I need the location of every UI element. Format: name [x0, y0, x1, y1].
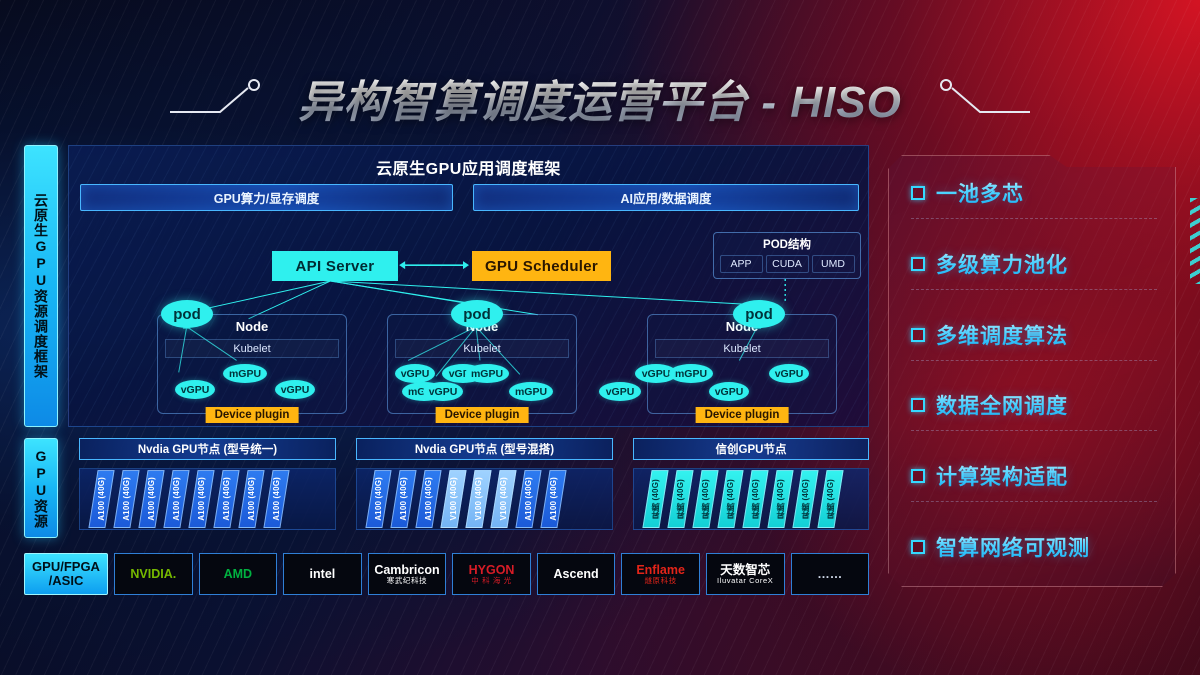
gpu-card-label: V100 (40G) [449, 477, 458, 520]
mgpu-pill[interactable]: mGPU [509, 382, 553, 401]
gpu-scheduler-node[interactable]: GPU Scheduler [472, 251, 611, 281]
gpu-card-label: A100 (40G) [524, 477, 533, 521]
intel-logo[interactable]: intel [283, 553, 362, 595]
gpu-card-label: V100 (40G) [499, 477, 508, 520]
gpu-resources-box: Nvdia GPU节点 (型号统一) Nvdia GPU节点 (型号混搭) 信创… [68, 438, 869, 538]
pod-badge[interactable]: pod [733, 300, 785, 328]
cloud-native-framework-box: 云原生GPU应用调度框架 GPU算力/显存调度 AI应用/数据调度 [68, 145, 869, 427]
pod-badge[interactable]: pod [161, 300, 213, 328]
gpu-card-label: A100 (40G) [222, 477, 231, 521]
gpu-card-label: A100 (40G) [97, 477, 106, 521]
feature-label: 计算架构适配 [936, 461, 1068, 491]
gpu-card-label: A100 (40G) [399, 477, 408, 521]
feature-label: 数据全网调度 [936, 390, 1068, 420]
kubelet-bar: Kubelet [395, 339, 569, 358]
pod-badge[interactable]: pod [451, 300, 503, 328]
feature-item-2[interactable]: 多级算力池化 [911, 249, 1157, 290]
vendor-name: HYGON [469, 564, 515, 577]
gpu-card-label: 昇腾 (40G) [675, 479, 686, 519]
panel-stripe-decor [1190, 198, 1200, 284]
mgpu-pill[interactable]: mGPU [669, 364, 713, 383]
vendor-subtitle: Iluvatar CoreX [717, 577, 773, 585]
vendor-subtitle: 燧原科技 [644, 577, 676, 585]
checkbox-square-icon [911, 469, 925, 483]
hardware-tab-line2: /ASIC [49, 574, 84, 588]
vgpu-pill[interactable]: vGPU [709, 382, 749, 401]
feature-item-4[interactable]: 数据全网调度 [911, 390, 1157, 431]
cambricon-logo[interactable]: Cambricon寒武纪科技 [368, 553, 447, 595]
device-plugin-tag[interactable]: Device plugin [696, 407, 789, 423]
gpu-card-label: 昇腾 (40G) [775, 479, 786, 519]
sidebar-tab-gpu-resource[interactable]: GPU资源 [24, 438, 58, 538]
kubelet-bar: Kubelet [165, 339, 339, 358]
gpu-card-label: A100 (40G) [549, 477, 558, 521]
gpu-card-label: 昇腾 (40G) [750, 479, 761, 519]
iluvatar-logo[interactable]: 天数智芯Iluvatar CoreX [706, 553, 785, 595]
ellipsis-icon[interactable]: …… [791, 553, 870, 595]
gpu-node-bar[interactable]: 信创GPU节点 [633, 438, 869, 460]
vgpu-pill[interactable]: vGPU [275, 380, 315, 399]
gpu-card-label: 昇腾 (40G) [650, 479, 661, 519]
vgpu-pill[interactable]: vGPU [423, 382, 463, 401]
feature-item-1[interactable]: 一池多芯 [911, 178, 1157, 219]
sidebar-tab-framework[interactable]: 云原生GPU资源调度框架 [24, 145, 58, 427]
slide-canvas: 异构智算调度运营平台 - HISO 云原生GPU资源调度框架 GPU资源 云原生… [0, 0, 1200, 675]
feature-item-6[interactable]: 智算网络可观测 [911, 532, 1157, 572]
checkbox-square-icon [911, 398, 925, 412]
vendor-name: Ascend [554, 568, 599, 581]
feature-label: 多级算力池化 [936, 249, 1068, 279]
vgpu-pill[interactable]: vGPU [175, 380, 215, 399]
gpu-card-label: A100 (40G) [272, 477, 281, 521]
gpu-card-label: V100 (40G) [474, 477, 483, 520]
pod-structure-cell-umd: UMD [812, 255, 855, 273]
mgpu-pill[interactable]: mGPU [223, 364, 267, 383]
hardware-tab-line1: GPU/FPGA [32, 560, 100, 574]
gpu-card-label: A100 (40G) [147, 477, 156, 521]
checkbox-square-icon [911, 257, 925, 271]
enflame-logo[interactable]: Enflame燧原科技 [621, 553, 700, 595]
vgpu-pill[interactable]: vGPU [395, 364, 435, 383]
vendor-name: intel [310, 568, 336, 581]
amd-logo[interactable]: AMD [199, 553, 278, 595]
gpu-card-label: 昇腾 (40G) [800, 479, 811, 519]
node-group: Node Kubelet Device plugin [647, 314, 837, 414]
gpu-card-label: 昇腾 (40G) [825, 479, 836, 519]
vendor-name: 天数智芯 [720, 564, 770, 577]
vendor-name: Enflame [636, 564, 685, 577]
feature-label: 一池多芯 [936, 178, 1024, 208]
mgpu-pill[interactable]: mGPU [465, 364, 509, 383]
vendor-subtitle: 寒武纪科技 [387, 577, 428, 585]
gpu-card-label: 昇腾 (40G) [725, 479, 736, 519]
checkbox-square-icon [911, 186, 925, 200]
kubelet-bar: Kubelet [655, 339, 829, 358]
nvidia-logo[interactable]: NVIDIA. [114, 553, 193, 595]
checkbox-square-icon [911, 328, 925, 342]
gpu-node-bar[interactable]: Nvdia GPU节点 (型号统一) [79, 438, 336, 460]
title-right-decor-icon [920, 78, 1030, 118]
title-row: 异构智算调度运营平台 - HISO [0, 62, 1200, 134]
title-left-decor-icon [170, 78, 280, 118]
pod-structure-title: POD结构 [714, 236, 860, 252]
vgpu-pill[interactable]: vGPU [769, 364, 809, 383]
pod-structure-box: POD结构 APP CUDA UMD [713, 232, 861, 279]
pod-structure-cell-cuda: CUDA [766, 255, 809, 273]
api-server-node[interactable]: API Server [272, 251, 398, 281]
gpu-node-bar[interactable]: Nvdia GPU节点 (型号混搭) [356, 438, 613, 460]
architecture-panel: 云原生GPU资源调度框架 GPU资源 云原生GPU应用调度框架 GPU算力/显存… [24, 143, 869, 606]
vendor-name: AMD [224, 568, 252, 581]
vendor-name: NVIDIA. [130, 568, 176, 581]
feature-list: 一池多芯多级算力池化多维调度算法数据全网调度计算架构适配智算网络可观测 [911, 178, 1157, 572]
vendor-logo-list: NVIDIA.AMDintelCambricon寒武纪科技HYGON中 科 海 … [114, 553, 869, 595]
vgpu-pill[interactable]: vGPU [599, 382, 641, 401]
gpu-card-label: A100 (40G) [122, 477, 131, 521]
feature-label: 多维调度算法 [936, 320, 1068, 350]
ascend-logo[interactable]: Ascend [537, 553, 616, 595]
pod-structure-cell-app: APP [720, 255, 763, 273]
gpu-card-label: A100 (40G) [172, 477, 181, 521]
feature-item-5[interactable]: 计算架构适配 [911, 461, 1157, 502]
device-plugin-tag[interactable]: Device plugin [436, 407, 529, 423]
gpu-card-label: A100 (40G) [197, 477, 206, 521]
feature-highlights-panel: 一池多芯多级算力池化多维调度算法数据全网调度计算架构适配智算网络可观测 [888, 155, 1176, 587]
vendor-name: Cambricon [374, 564, 439, 577]
page-title: 异构智算调度运营平台 - HISO [298, 66, 902, 130]
vendor-subtitle: 中 科 海 光 [471, 577, 511, 585]
gpu-card-label: A100 (40G) [424, 477, 433, 521]
framework-bar-compute[interactable]: GPU算力/显存调度 [80, 184, 453, 211]
checkbox-square-icon [911, 540, 925, 554]
sidebar-tab-hardware[interactable]: GPU/FPGA /ASIC [24, 553, 108, 595]
framework-bar-ai[interactable]: AI应用/数据调度 [473, 184, 859, 211]
hygon-logo[interactable]: HYGON中 科 海 光 [452, 553, 531, 595]
gpu-card-label: 昇腾 (40G) [700, 479, 711, 519]
device-plugin-tag[interactable]: Device plugin [206, 407, 299, 423]
gpu-card-label: A100 (40G) [247, 477, 256, 521]
gpu-card-label: A100 (40G) [374, 477, 383, 521]
framework-title: 云原生GPU应用调度框架 [69, 155, 868, 179]
hardware-vendor-row: GPU/FPGA /ASIC NVIDIA.AMDintelCambricon寒… [24, 553, 869, 595]
feature-label: 智算网络可观测 [936, 532, 1090, 562]
feature-item-3[interactable]: 多维调度算法 [911, 320, 1157, 361]
vendor-name: …… [817, 568, 842, 581]
